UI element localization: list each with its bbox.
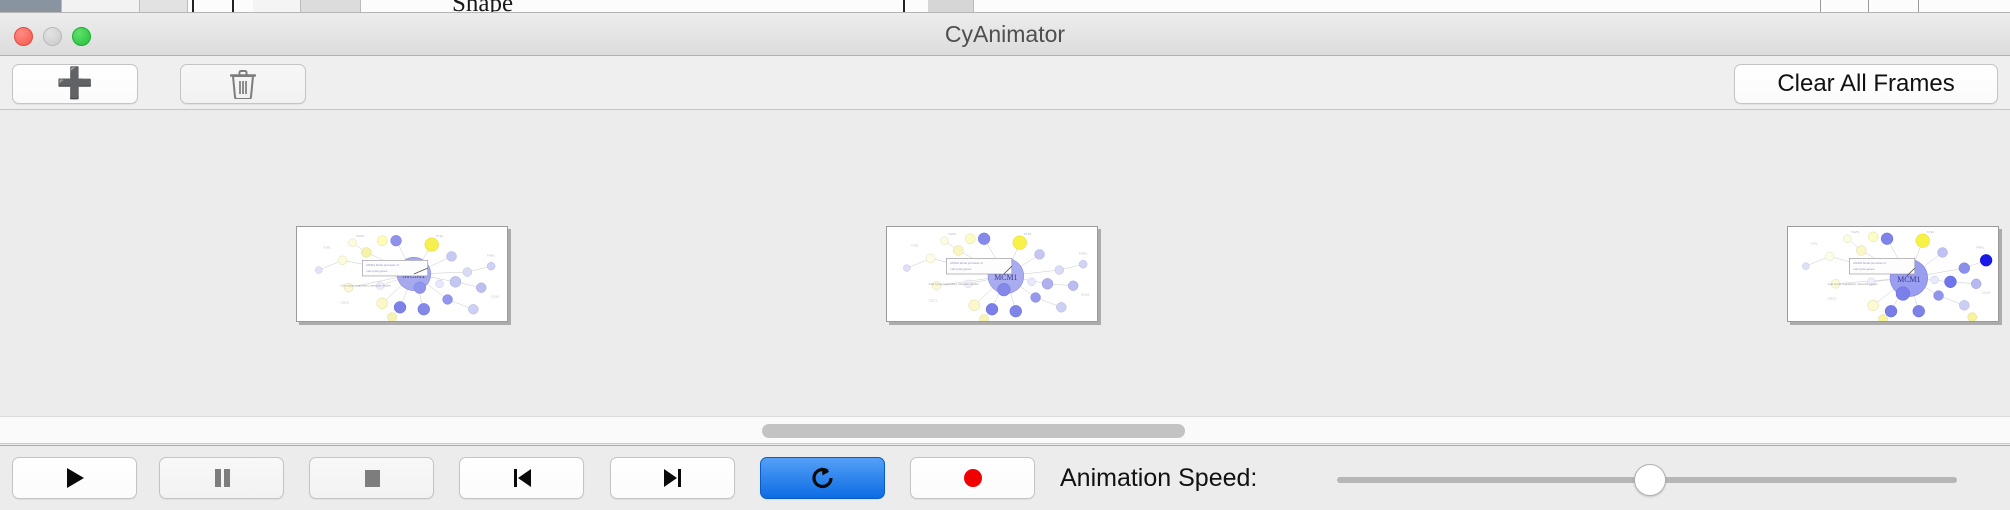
stop-button[interactable] xyxy=(309,457,434,499)
svg-text:cell-cycle genes: cell-cycle genes xyxy=(366,269,388,273)
svg-text:CLN2: CLN2 xyxy=(1982,291,1990,295)
skip-to-start-button[interactable] xyxy=(459,457,584,499)
svg-text:Cell cycle regulatory network: Cell cycle regulatory network model xyxy=(1828,282,1878,286)
stop-icon xyxy=(359,465,385,491)
svg-text:SWI5: SWI5 xyxy=(948,232,956,236)
svg-text:Cell cycle regulatory network: Cell cycle regulatory network model xyxy=(929,282,979,286)
svg-text:CDC2: CDC2 xyxy=(1828,296,1837,300)
pause-icon xyxy=(209,465,235,491)
record-button[interactable] xyxy=(910,457,1035,499)
svg-text:MCM1 binds promoter of: MCM1 binds promoter of xyxy=(366,263,399,267)
svg-text:MCM1: MCM1 xyxy=(1897,275,1920,284)
svg-text:YLR1: YLR1 xyxy=(323,246,331,250)
svg-text:FAR1: FAR1 xyxy=(487,253,495,257)
scrollbar-thumb[interactable] xyxy=(762,424,1185,438)
pause-button[interactable] xyxy=(159,457,284,499)
svg-text:MCM1 binds promoter of: MCM1 binds promoter of xyxy=(950,261,983,265)
cyanimator-window: Shape CyAnimator ➕ Clear All Frames xyxy=(0,0,2010,510)
delete-frame-button[interactable] xyxy=(180,64,306,104)
timeline-panel[interactable]: MCM1 xyxy=(0,110,2010,416)
svg-text:SWI5: SWI5 xyxy=(356,234,364,238)
timeline-scrollbar[interactable] xyxy=(0,416,2010,444)
timeline-frame-1[interactable]: MCM1 xyxy=(296,226,508,322)
trash-icon xyxy=(230,69,256,99)
playback-bar: Animation Speed: xyxy=(0,445,2010,510)
svg-text:MCM1 binds promoter of: MCM1 binds promoter of xyxy=(1853,261,1886,265)
svg-text:CLN2: CLN2 xyxy=(491,295,499,299)
record-icon xyxy=(960,465,986,491)
svg-text:CLN2: CLN2 xyxy=(1081,293,1089,297)
svg-text:SWI5: SWI5 xyxy=(1851,230,1859,234)
timeline-frame-2[interactable]: MCM1 xyxy=(886,226,1098,322)
svg-text:Cell cycle regulatory network: Cell cycle regulatory network model xyxy=(341,284,391,288)
loop-button[interactable] xyxy=(760,457,885,499)
animation-speed-slider-thumb[interactable] xyxy=(1634,464,1666,496)
animation-speed-label: Animation Speed: xyxy=(1060,446,1257,510)
add-frame-button[interactable]: ➕ xyxy=(12,64,138,104)
play-icon xyxy=(62,465,88,491)
svg-text:STE1: STE1 xyxy=(436,234,444,238)
loop-icon xyxy=(809,464,837,492)
plus-icon: ➕ xyxy=(56,69,93,99)
page-title: CyAnimator xyxy=(0,13,2010,56)
svg-text:STE1: STE1 xyxy=(1024,232,1032,236)
svg-text:CDC2: CDC2 xyxy=(929,298,938,302)
svg-text:CDC2: CDC2 xyxy=(341,300,350,304)
svg-text:STE1: STE1 xyxy=(1927,230,1935,234)
svg-text:cell-cycle genes: cell-cycle genes xyxy=(1853,267,1875,271)
skip-forward-icon xyxy=(660,465,686,491)
background-window: Shape xyxy=(0,0,2010,13)
toolbar: ➕ Clear All Frames xyxy=(0,56,2010,110)
svg-text:cell-cycle genes: cell-cycle genes xyxy=(950,267,972,271)
svg-text:FAR1: FAR1 xyxy=(1976,246,1984,250)
skip-to-end-button[interactable] xyxy=(610,457,735,499)
skip-back-icon xyxy=(509,465,535,491)
timeline-frame-3[interactable]: MCM1 xyxy=(1787,226,1999,322)
title-bar: CyAnimator xyxy=(0,13,2010,56)
svg-text:YLR1: YLR1 xyxy=(911,244,919,248)
play-button[interactable] xyxy=(12,457,137,499)
clear-all-frames-button[interactable]: Clear All Frames xyxy=(1734,64,1998,104)
svg-text:FAR1: FAR1 xyxy=(1079,251,1087,255)
svg-text:YLR1: YLR1 xyxy=(1810,242,1818,246)
background-window-text: Shape xyxy=(452,0,513,13)
